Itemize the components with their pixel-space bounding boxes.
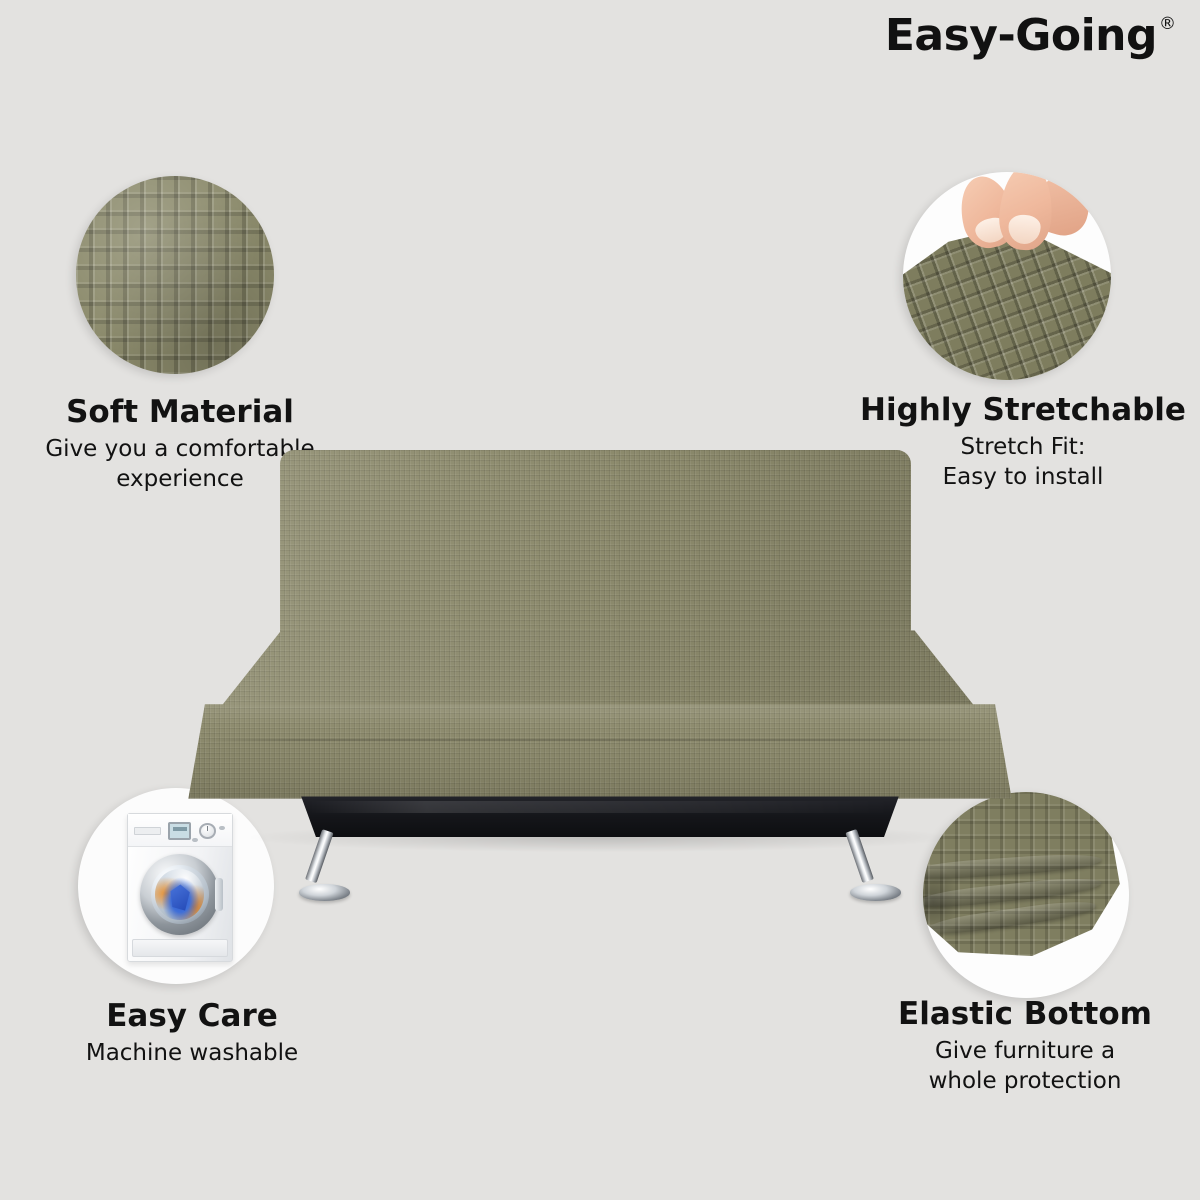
laundry-inside-drum xyxy=(155,869,204,919)
fabric-swatch-icon xyxy=(76,176,274,374)
feature-title: Soft Material xyxy=(10,396,350,429)
finger-index xyxy=(997,172,1054,251)
washer-door-handle xyxy=(215,878,224,910)
sofa-backrest-cover xyxy=(280,450,911,655)
sofa-leg-left xyxy=(297,831,380,901)
feature-caption-easy-care: Easy Care Machine washable xyxy=(22,1000,362,1069)
hand-stretching-fabric-icon xyxy=(903,172,1111,380)
washer-door xyxy=(140,854,219,935)
hand-icon xyxy=(961,172,1090,251)
feature-title: Elastic Bottom xyxy=(860,998,1190,1031)
sofa-leg-right xyxy=(820,831,903,901)
leg-stem xyxy=(845,829,873,883)
fabric-weave-texture xyxy=(76,176,274,374)
feature-subtitle-line-2: whole protection xyxy=(860,1067,1190,1096)
washer-door-glass xyxy=(151,865,209,925)
infographic-canvas: Easy-Going ® Soft Material Give you a co… xyxy=(0,0,1200,1200)
feature-subtitle-line-1: Give furniture a xyxy=(860,1037,1190,1066)
stretched-fabric-swatch xyxy=(903,230,1111,380)
fingernail xyxy=(1008,214,1042,245)
detergent-drawer-icon xyxy=(134,827,161,835)
brand-logo: Easy-Going ® xyxy=(885,14,1176,58)
sofa-seat-cover xyxy=(185,704,1015,802)
feature-subtitle-line-1: Machine washable xyxy=(22,1039,362,1068)
product-sofa-image xyxy=(185,450,1015,860)
registered-trademark-icon: ® xyxy=(1159,16,1176,33)
sofa-base-highlight xyxy=(310,801,891,813)
sofa-seat-crease xyxy=(202,739,999,741)
leg-foot xyxy=(850,884,901,901)
feature-title: Easy Care xyxy=(22,1000,362,1033)
leg-stem xyxy=(305,829,333,883)
washer-bottom-panel xyxy=(132,939,228,957)
brand-name: Easy-Going xyxy=(885,14,1157,58)
feature-title: Highly Stretchable xyxy=(848,394,1198,427)
leg-foot xyxy=(299,884,350,901)
feature-caption-elastic-bottom: Elastic Bottom Give furniture a whole pr… xyxy=(860,998,1190,1096)
